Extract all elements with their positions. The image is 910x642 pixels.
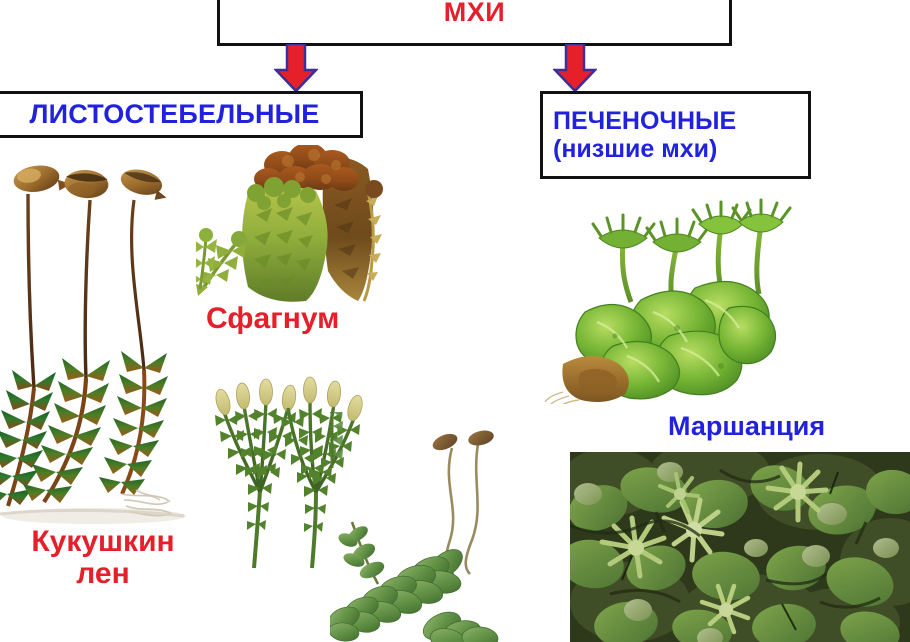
moss-classification-diagram: МХИ ЛИСТОСТЕБЕЛЬНЫЕ ПЕЧЕНОЧНЫЕ (низшие м… xyxy=(0,0,910,642)
down-arrow-icon xyxy=(274,44,318,92)
marchantia-liverwort-illustration xyxy=(545,196,795,404)
caption-marchantia: Маршанция xyxy=(668,412,825,441)
caption-sphagnum: Сфагнум xyxy=(206,303,339,335)
down-arrow-icon xyxy=(553,44,597,92)
branch-box-leafy-mosses: ЛИСТОСТЕБЕЛЬНЫЕ xyxy=(0,91,363,138)
branch-label-liverworts: ПЕЧЕНОЧНЫЕ xyxy=(553,107,736,135)
branch-sublabel-liverworts: (низшие мхи) xyxy=(553,135,717,163)
polytrichum-haircap-moss-illustration xyxy=(0,138,194,538)
creeping-leafy-moss-illustration xyxy=(330,412,520,642)
branch-box-liverworts: ПЕЧЕНОЧНЫЕ (низшие мхи) xyxy=(540,91,811,179)
caption-haircap-moss: Кукушкин лен xyxy=(8,526,198,591)
marchantia-colony-photograph xyxy=(570,452,910,642)
root-category-box: МХИ xyxy=(217,0,732,46)
root-category-label: МХИ xyxy=(444,0,505,26)
branch-label-leafy-mosses: ЛИСТОСТЕБЕЛЬНЫЕ xyxy=(29,100,319,128)
sphagnum-moss-illustration xyxy=(196,145,396,305)
